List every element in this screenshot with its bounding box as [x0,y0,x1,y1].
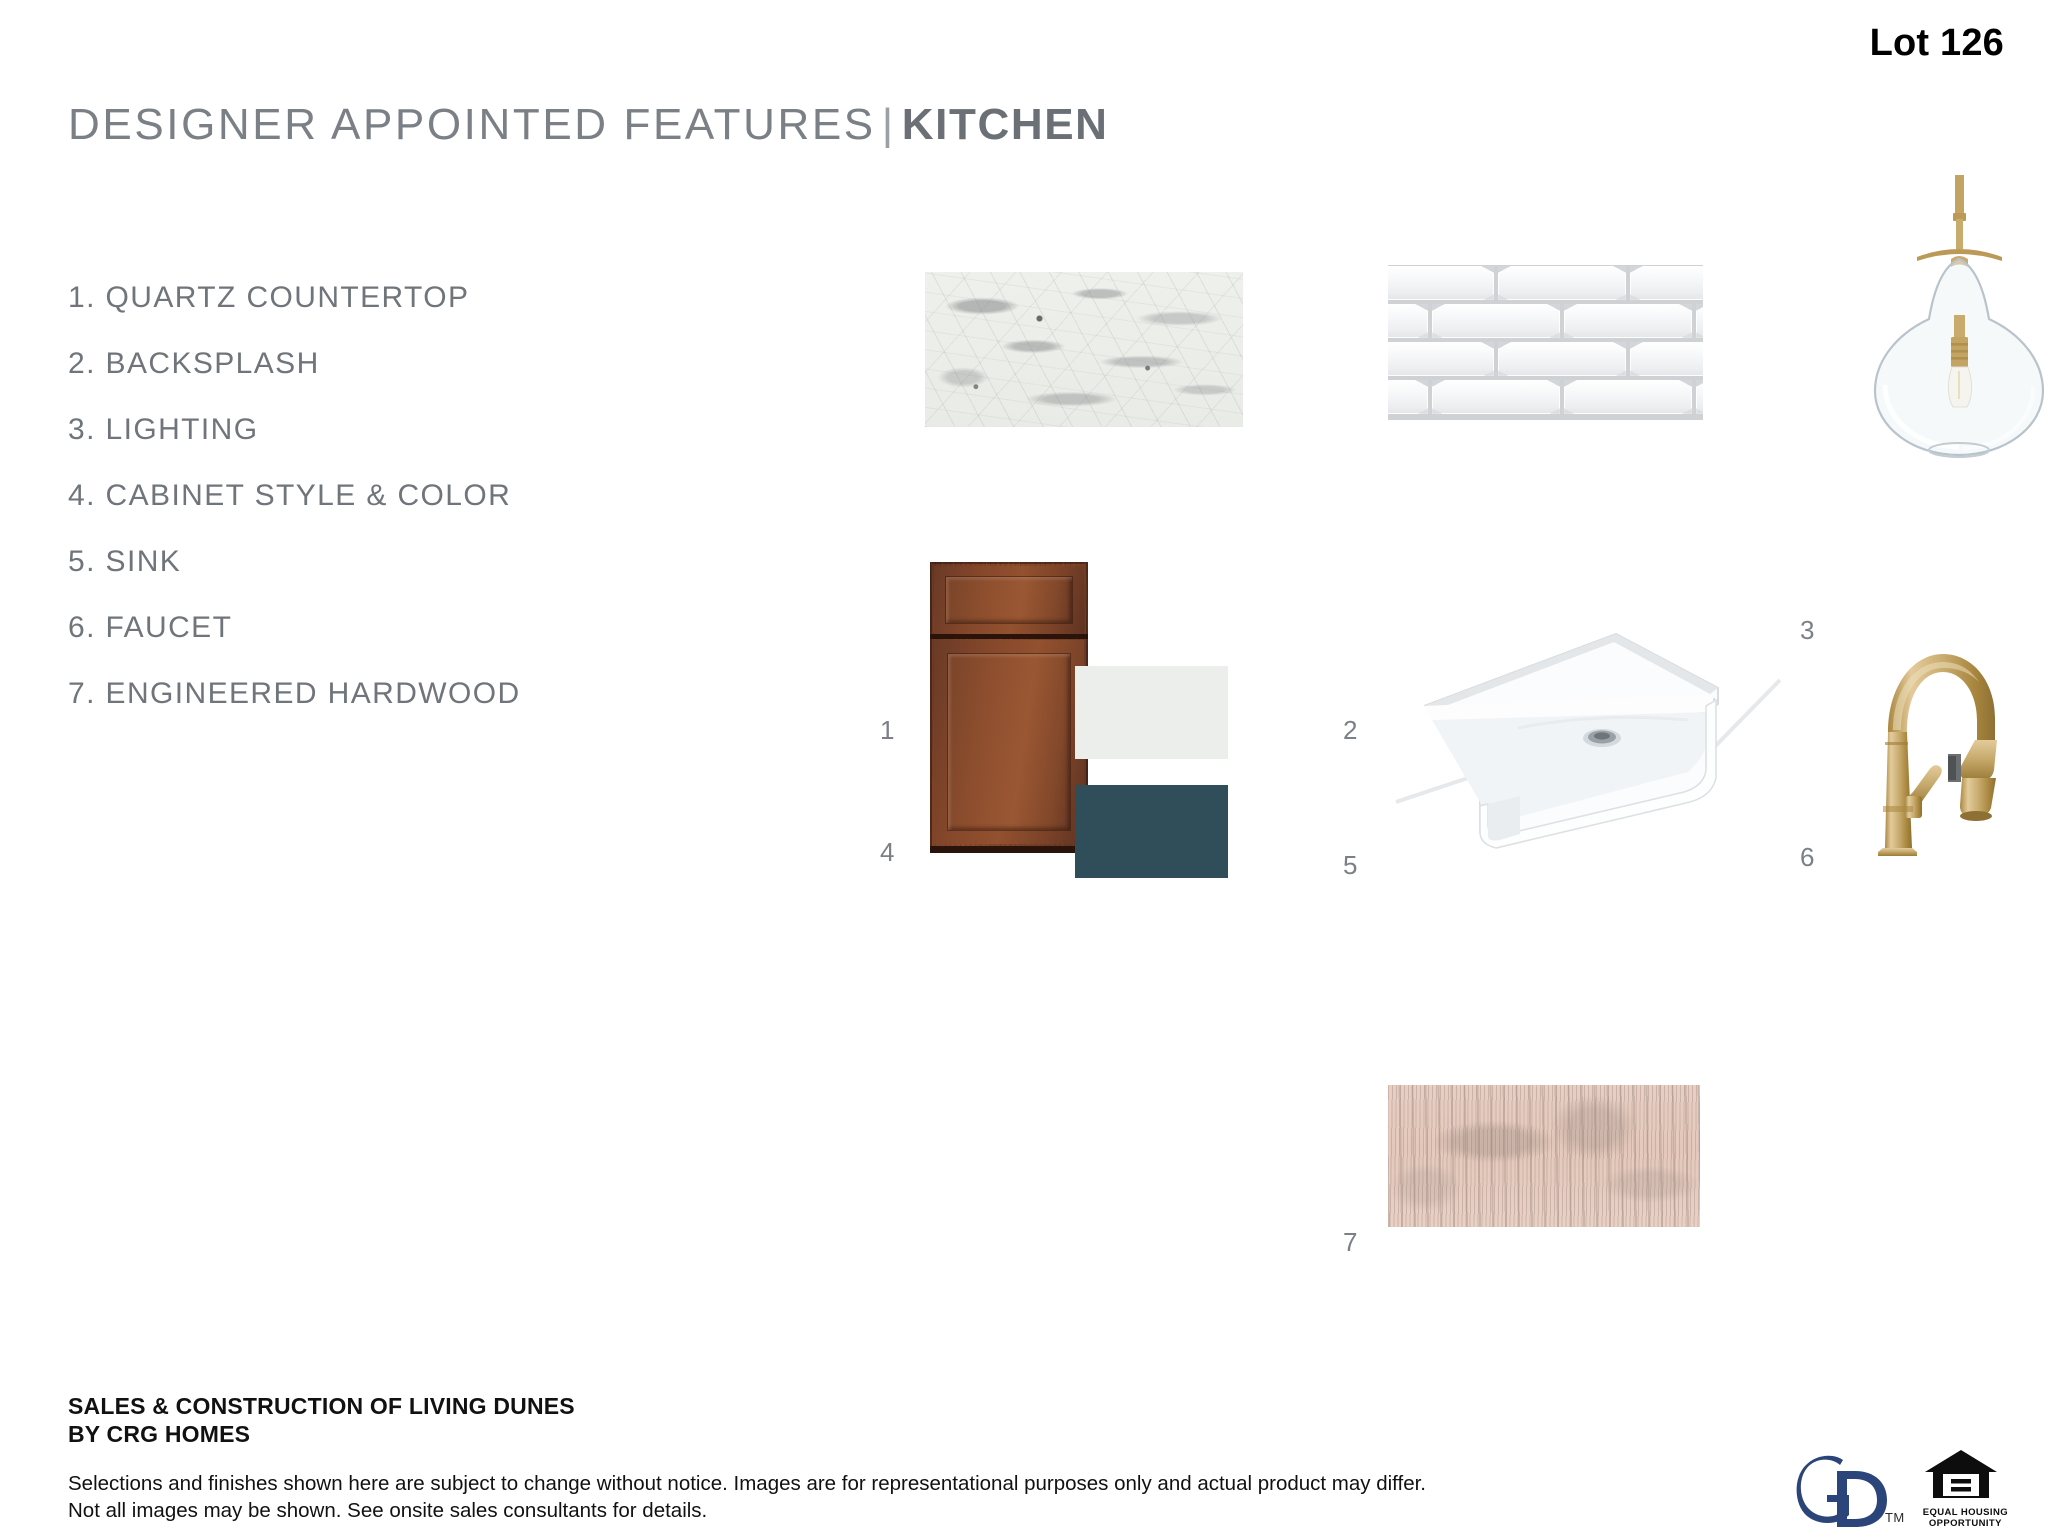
equal-housing-line-2: OPPORTUNITY [1923,1518,2008,1529]
footer-brand-line-2: BY CRG HOMES [68,1420,575,1448]
cabinet-paint-white-swatch [1075,666,1228,759]
page-title-category: KITCHEN [902,100,1109,149]
swatch-number-4: 4 [880,837,895,868]
swatch-number-2: 2 [1343,715,1358,746]
pendant-light-image [1855,175,2048,465]
swatch-number-5: 5 [1343,850,1358,881]
gd-logo-trademark: TM [1885,1510,1905,1525]
cabinet-door-image [930,562,1088,853]
swatch-number-6: 6 [1800,842,1815,873]
swatch-number-3: 3 [1800,615,1815,646]
lot-number-badge: Lot 126 [1870,22,2004,65]
backsplash-tile-swatch [1388,265,1703,420]
gd-brand-logo: TM [1793,1455,1901,1529]
feature-list-item-6: 6. FAUCET [68,611,708,677]
page-title-separator: | [876,100,902,149]
equal-housing-house-icon [1923,1448,1999,1500]
farmhouse-sink-image [1388,620,1788,860]
page-title-main: DESIGNER APPOINTED FEATURES [68,100,876,149]
footer-disclaimer: Selections and finishes shown here are s… [68,1470,1426,1524]
equal-housing-line-1: EQUAL HOUSING [1923,1507,2008,1518]
footer-disclaimer-line-2: Not all images may be shown. See onsite … [68,1497,1426,1524]
feature-list-item-3: 3. LIGHTING [68,413,708,479]
footer-logos: TM EQUAL HOUSING OPPORTUNITY [1793,1448,2008,1529]
feature-list-item-4: 4. CABINET STYLE & COLOR [68,479,708,545]
swatch-number-1: 1 [880,715,895,746]
cabinet-paint-teal-swatch [1075,785,1228,878]
feature-list-item-7: 7. ENGINEERED HARDWOOD [68,677,708,743]
engineered-hardwood-swatch [1388,1085,1700,1227]
equal-housing-logo: EQUAL HOUSING OPPORTUNITY [1923,1448,2008,1529]
feature-list-item-5: 5. SINK [68,545,708,611]
footer-brand-line-1: SALES & CONSTRUCTION OF LIVING DUNES [68,1392,575,1420]
feature-list-item-1: 1. QUARTZ COUNTERTOP [68,281,708,347]
page-title: DESIGNER APPOINTED FEATURES|KITCHEN [68,100,1109,150]
quartz-countertop-swatch [925,272,1243,427]
swatch-number-7: 7 [1343,1227,1358,1258]
swatch-cell-7: 7 [1343,1085,1655,1227]
feature-list: 1. QUARTZ COUNTERTOP 2. BACKSPLASH 3. LI… [68,281,708,743]
kitchen-faucet-image [1855,620,2045,865]
footer-brand: SALES & CONSTRUCTION OF LIVING DUNES BY … [68,1392,575,1448]
feature-list-item-2: 2. BACKSPLASH [68,347,708,413]
footer-disclaimer-line-1: Selections and finishes shown here are s… [68,1470,1426,1497]
equal-housing-logo-text: EQUAL HOUSING OPPORTUNITY [1923,1507,2008,1529]
